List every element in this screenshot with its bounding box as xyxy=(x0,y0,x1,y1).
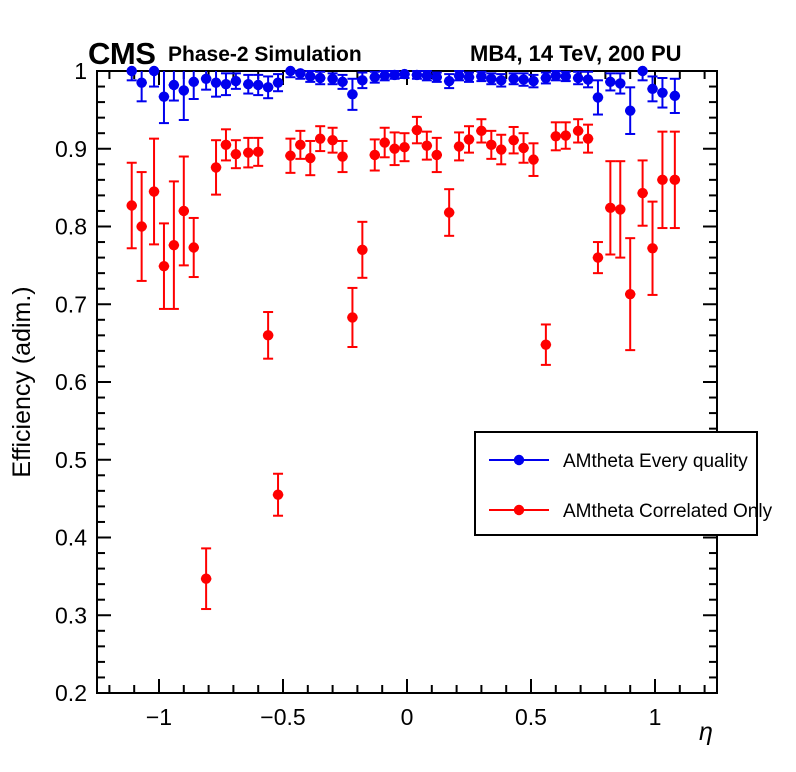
data-point xyxy=(454,70,464,80)
data-point xyxy=(647,243,657,253)
data-point xyxy=(179,206,189,216)
data-point xyxy=(201,74,211,84)
data-point xyxy=(422,140,432,150)
y-tick-label: 0.4 xyxy=(55,525,87,551)
data-point xyxy=(263,330,273,340)
x-axis-title: η xyxy=(699,718,713,746)
data-point xyxy=(253,147,263,157)
data-point xyxy=(337,77,347,87)
series-every-quality xyxy=(127,66,681,134)
data-point xyxy=(231,76,241,86)
data-point xyxy=(593,92,603,102)
data-point xyxy=(615,78,625,88)
data-point xyxy=(211,77,221,87)
data-point xyxy=(573,73,583,83)
data-point xyxy=(201,574,211,584)
data-point xyxy=(211,162,221,172)
data-point xyxy=(243,79,253,89)
data-point xyxy=(637,188,647,198)
data-point xyxy=(169,240,179,250)
data-point xyxy=(561,71,571,81)
data-point xyxy=(551,131,561,141)
data-point xyxy=(444,76,454,86)
data-point xyxy=(295,140,305,150)
legend-label: AMtheta Correlated Only xyxy=(563,501,773,522)
data-point xyxy=(541,73,551,83)
data-point xyxy=(541,339,551,349)
data-point xyxy=(657,175,667,185)
data-point xyxy=(422,70,432,80)
x-tick-label: −0.5 xyxy=(260,704,305,730)
data-point xyxy=(486,140,496,150)
data-point xyxy=(273,77,283,87)
data-point xyxy=(496,144,506,154)
data-point xyxy=(347,312,357,322)
y-tick-label: 0.6 xyxy=(55,369,87,395)
x-tick-label: −1 xyxy=(146,704,172,730)
data-point xyxy=(670,175,680,185)
data-point xyxy=(528,154,538,164)
data-point xyxy=(379,137,389,147)
data-point xyxy=(127,200,137,210)
data-point xyxy=(295,68,305,78)
x-tick-label: 0.5 xyxy=(515,704,547,730)
data-point xyxy=(454,141,464,151)
legend-label: AMtheta Every quality xyxy=(563,451,748,472)
data-point xyxy=(583,74,593,84)
data-point xyxy=(243,147,253,157)
data-point xyxy=(464,134,474,144)
data-point xyxy=(496,75,506,85)
data-point xyxy=(573,126,583,136)
data-point xyxy=(476,126,486,136)
x-axis-ticks xyxy=(109,71,704,693)
data-point xyxy=(583,133,593,143)
data-point xyxy=(486,74,496,84)
data-point xyxy=(508,74,518,84)
data-point xyxy=(136,221,146,231)
y-tick-label: 0.8 xyxy=(55,214,87,240)
data-point xyxy=(370,72,380,82)
data-point xyxy=(464,72,474,82)
data-point xyxy=(625,105,635,115)
data-point xyxy=(159,261,169,271)
data-point xyxy=(285,151,295,161)
y-tick-label: 0.9 xyxy=(55,136,87,162)
data-point xyxy=(149,66,159,76)
data-point xyxy=(179,85,189,95)
data-point xyxy=(263,82,273,92)
data-point xyxy=(315,133,325,143)
data-point xyxy=(605,203,615,213)
data-point xyxy=(379,70,389,80)
plot-canvas: CMS Phase-2 Simulation MB4, 14 TeV, 200 … xyxy=(0,0,796,772)
data-point xyxy=(605,77,615,87)
data-point xyxy=(231,149,241,159)
data-point xyxy=(476,71,486,81)
y-tick-label: 0.7 xyxy=(55,291,87,317)
x-axis-tick-labels: −1−0.500.51 xyxy=(146,704,662,730)
legend-box[interactable]: AMtheta Every qualityAMtheta Correlated … xyxy=(475,432,773,535)
data-point xyxy=(389,144,399,154)
data-point xyxy=(221,140,231,150)
chart-svg: −1−0.500.51 0.20.30.40.50.60.70.80.91 AM… xyxy=(0,0,796,772)
y-tick-label: 0.3 xyxy=(55,602,87,628)
data-point xyxy=(389,70,399,80)
data-point xyxy=(647,84,657,94)
data-point xyxy=(508,135,518,145)
data-point xyxy=(159,91,169,101)
data-point xyxy=(615,204,625,214)
data-point xyxy=(273,490,283,500)
data-point xyxy=(189,77,199,87)
data-point xyxy=(593,252,603,262)
data-point xyxy=(637,66,647,76)
data-point xyxy=(337,151,347,161)
data-point xyxy=(149,186,159,196)
data-point xyxy=(518,143,528,153)
data-point xyxy=(561,130,571,140)
data-point xyxy=(189,242,199,252)
y-tick-label: 0.5 xyxy=(55,447,87,473)
data-point xyxy=(432,72,442,82)
data-point xyxy=(127,66,137,76)
data-point xyxy=(305,153,315,163)
data-point xyxy=(327,135,337,145)
data-point xyxy=(444,207,454,217)
data-point xyxy=(432,150,442,160)
data-point xyxy=(412,70,422,80)
data-point xyxy=(528,76,538,86)
data-point xyxy=(399,142,409,152)
axes-frame xyxy=(97,71,717,693)
data-point xyxy=(625,289,635,299)
data-point xyxy=(347,89,357,99)
data-point xyxy=(412,125,422,135)
x-tick-label: 1 xyxy=(649,704,662,730)
data-point xyxy=(305,71,315,81)
y-axis-ticks xyxy=(97,71,717,693)
data-point xyxy=(657,88,667,98)
data-point xyxy=(370,150,380,160)
y-axis-tick-labels: 0.20.30.40.50.60.70.80.91 xyxy=(55,58,87,706)
data-point xyxy=(399,69,409,79)
data-point xyxy=(518,74,528,84)
data-point xyxy=(136,77,146,87)
y-axis-title: Efficiency (adim.) xyxy=(8,286,36,477)
y-tick-label: 1 xyxy=(74,58,87,84)
data-point xyxy=(221,79,231,89)
data-point xyxy=(285,66,295,76)
y-tick-label: 0.2 xyxy=(55,680,87,706)
data-point xyxy=(551,70,561,80)
data-point xyxy=(253,80,263,90)
data-point xyxy=(169,80,179,90)
data-point xyxy=(357,245,367,255)
x-tick-label: 0 xyxy=(401,704,414,730)
data-point xyxy=(327,74,337,84)
data-point xyxy=(357,75,367,85)
data-point xyxy=(670,91,680,101)
data-point xyxy=(315,73,325,83)
